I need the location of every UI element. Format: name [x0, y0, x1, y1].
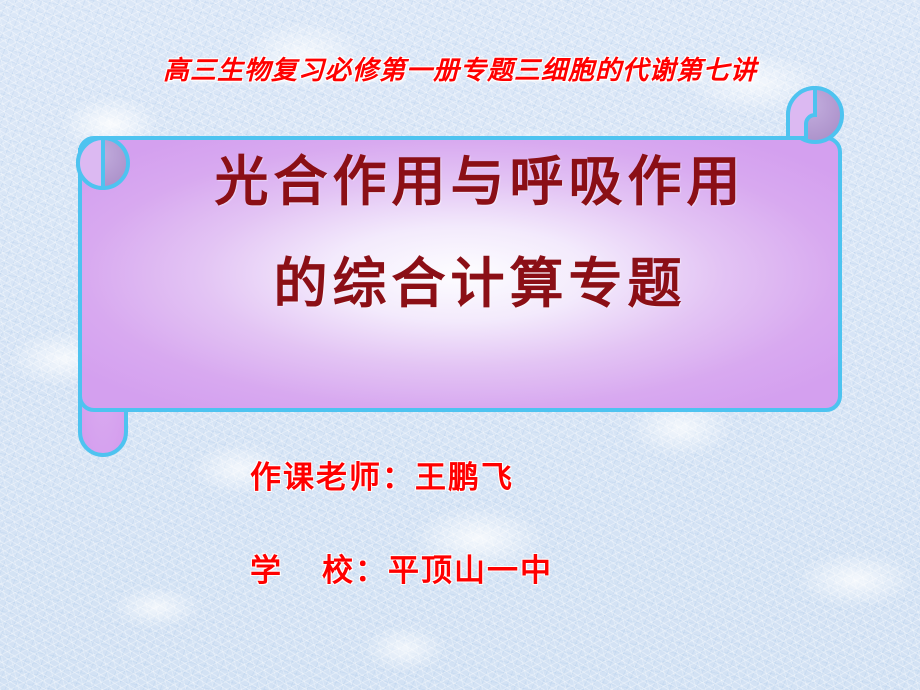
- title-line-2: 的综合计算专题: [130, 257, 830, 311]
- credit-school: 学 校：平顶山一中: [250, 545, 700, 590]
- slide-header-subtitle: 高三生物复习必修第一册专题三细胞的代谢第七讲: [0, 50, 920, 87]
- presentation-slide: 高三生物复习必修第一册专题三细胞的代谢第七讲: [0, 0, 920, 690]
- slide-title: 光合作用与呼吸作用 的综合计算专题: [130, 155, 830, 311]
- slide-credits: 作课老师：王鹏飞 学 校：平顶山一中: [250, 452, 700, 590]
- title-line-1: 光合作用与呼吸作用: [130, 155, 830, 209]
- credit-teacher: 作课老师：王鹏飞: [250, 452, 700, 497]
